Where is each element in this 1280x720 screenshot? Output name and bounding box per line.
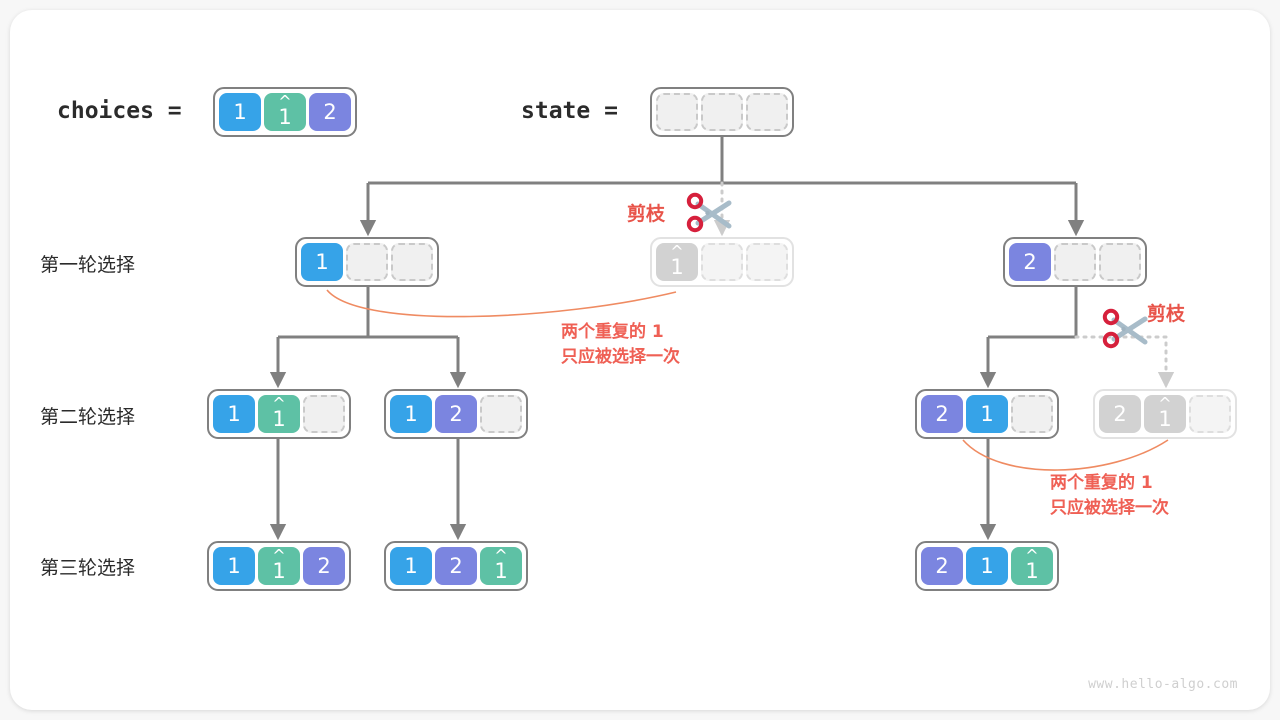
state-cell-0: [656, 93, 698, 131]
node-r3-b: 1 2 ^ 1: [384, 541, 528, 591]
cell-empty: [303, 395, 345, 433]
cell: ^ 1: [1011, 547, 1053, 585]
choices-cell-0: 1: [219, 93, 261, 131]
state-array: [650, 87, 794, 137]
cell: 1: [390, 547, 432, 585]
scissors-icon: [684, 192, 740, 236]
node-r2-a: 1 ^ 1: [207, 389, 351, 439]
duplicate-note-line-2: 只应被选择一次: [1050, 496, 1169, 521]
cell-empty: [1099, 243, 1141, 281]
state-cell-1: [701, 93, 743, 131]
duplicate-note-line-2: 只应被选择一次: [561, 345, 680, 370]
cell: 2: [921, 395, 963, 433]
cell: 1: [390, 395, 432, 433]
cell-empty: [346, 243, 388, 281]
duplicate-note-line-1: 两个重复的 1: [1050, 471, 1169, 496]
cell: 1: [213, 547, 255, 585]
cell: 2: [303, 547, 345, 585]
round-label-2: 第二轮选择: [40, 402, 135, 429]
cell-pruned: 2: [1099, 395, 1141, 433]
cell: 2: [921, 547, 963, 585]
choices-label: choices =: [57, 98, 182, 124]
node-r1-mid-pruned: ^ 1: [650, 237, 794, 287]
cell: 1: [966, 395, 1008, 433]
choices-array: 1 ^ 1 2: [213, 87, 357, 137]
cell-empty: [480, 395, 522, 433]
cell: ^ 1: [258, 395, 300, 433]
choices-cell-1: ^ 1: [264, 93, 306, 131]
diagram-canvas: choices = state = 第一轮选择 第二轮选择 第三轮选择 1 ^ …: [0, 0, 1280, 720]
state-cell-2: [746, 93, 788, 131]
duplicate-note-2: 两个重复的 1 只应被选择一次: [1050, 471, 1169, 520]
state-label: state =: [521, 98, 618, 124]
cell: 2: [1009, 243, 1051, 281]
cell-empty: [701, 243, 743, 281]
cell-empty: [1189, 395, 1231, 433]
node-r1-left: 1: [295, 237, 439, 287]
node-r2-c: 2 1: [915, 389, 1059, 439]
cell: 2: [435, 395, 477, 433]
node-r3-c: 2 1 ^ 1: [915, 541, 1059, 591]
duplicate-note-1: 两个重复的 1 只应被选择一次: [561, 320, 680, 369]
cell: ^ 1: [480, 547, 522, 585]
cell-empty: [1011, 395, 1053, 433]
prune-label-1: 剪枝: [627, 199, 665, 226]
node-r3-a: 1 ^ 1 2: [207, 541, 351, 591]
cell: 1: [966, 547, 1008, 585]
round-label-1: 第一轮选择: [40, 250, 135, 277]
cell: 2: [435, 547, 477, 585]
cell: 1: [301, 243, 343, 281]
round-label-3: 第三轮选择: [40, 553, 135, 580]
prune-label-2: 剪枝: [1147, 299, 1185, 326]
cell-empty: [746, 243, 788, 281]
cell-empty: [1054, 243, 1096, 281]
node-r2-b: 1 2: [384, 389, 528, 439]
duplicate-note-line-1: 两个重复的 1: [561, 320, 680, 345]
cell-empty: [391, 243, 433, 281]
node-r1-right: 2: [1003, 237, 1147, 287]
site-watermark: www.hello-algo.com: [1088, 677, 1238, 692]
cell-pruned: ^ 1: [1144, 395, 1186, 433]
cell-pruned: ^ 1: [656, 243, 698, 281]
choices-cell-2: 2: [309, 93, 351, 131]
node-r2-d-pruned: 2 ^ 1: [1093, 389, 1237, 439]
cell: ^ 1: [258, 547, 300, 585]
cell: 1: [213, 395, 255, 433]
